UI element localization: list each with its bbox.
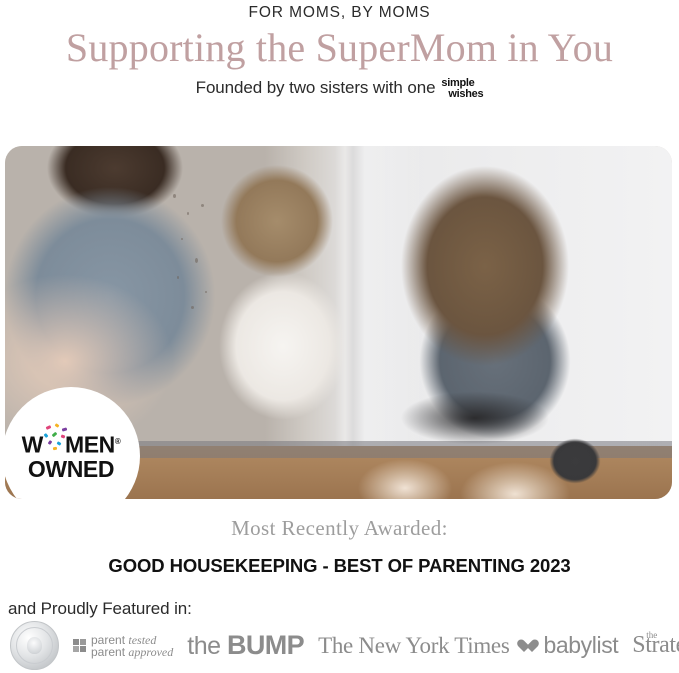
- founded-by-row: Founded by two sisters with one simple w…: [0, 74, 679, 98]
- confetti-icon: [45, 425, 51, 430]
- heart-icon: [524, 639, 539, 653]
- moms-choice-awards-seal-icon: [10, 621, 59, 670]
- award-title: GOOD HOUSEKEEPING - BEST OF PARENTING 20…: [0, 555, 679, 577]
- promo-header: FOR MOMS, BY MOMS Supporting the SuperMo…: [0, 4, 679, 98]
- registered-trademark-icon: ®: [115, 437, 121, 446]
- babylist-wordmark: babylist: [544, 632, 619, 659]
- hero-photo: WMEN® OWNED: [5, 146, 672, 499]
- most-recently-awarded-label: Most Recently Awarded:: [0, 516, 679, 541]
- ptpa-line2-b: approved: [128, 645, 173, 659]
- featured-in-label: and Proudly Featured in:: [8, 599, 679, 619]
- the-bump-light: the: [187, 632, 227, 660]
- eyebrow-text: FOR MOMS, BY MOMS: [0, 4, 679, 22]
- parent-tested-parent-approved-logo: parent tested parent approved: [73, 634, 173, 658]
- press-logo-row: parent tested parent approved the BUMP T…: [0, 618, 679, 673]
- the-bump-bold: BUMP: [227, 630, 304, 660]
- women-owned-men: MEN: [65, 431, 115, 457]
- strategist-the: the: [646, 630, 657, 640]
- the-strategist-logo: theStrategist: [632, 632, 679, 659]
- awards-section: Most Recently Awarded: GOOD HOUSEKEEPING…: [0, 504, 679, 619]
- babylist-logo: babylist: [524, 632, 619, 659]
- page-title: Supporting the SuperMom in You: [0, 24, 679, 71]
- simple-wishes-line2: wishes: [441, 88, 483, 100]
- ptpa-line2-a: parent: [91, 645, 125, 659]
- women-owned-line2: OWNED: [28, 456, 114, 482]
- grid-squares-icon: [73, 639, 86, 652]
- women-owned-line1: WMEN®: [22, 430, 121, 457]
- women-owned-w: W: [22, 431, 43, 457]
- simple-wishes-logo: simple wishes: [441, 78, 483, 99]
- founded-by-text: Founded by two sisters with one: [196, 78, 436, 98]
- new-york-times-logo: The New York Times: [318, 633, 509, 659]
- the-bump-logo: the BUMP: [187, 630, 304, 661]
